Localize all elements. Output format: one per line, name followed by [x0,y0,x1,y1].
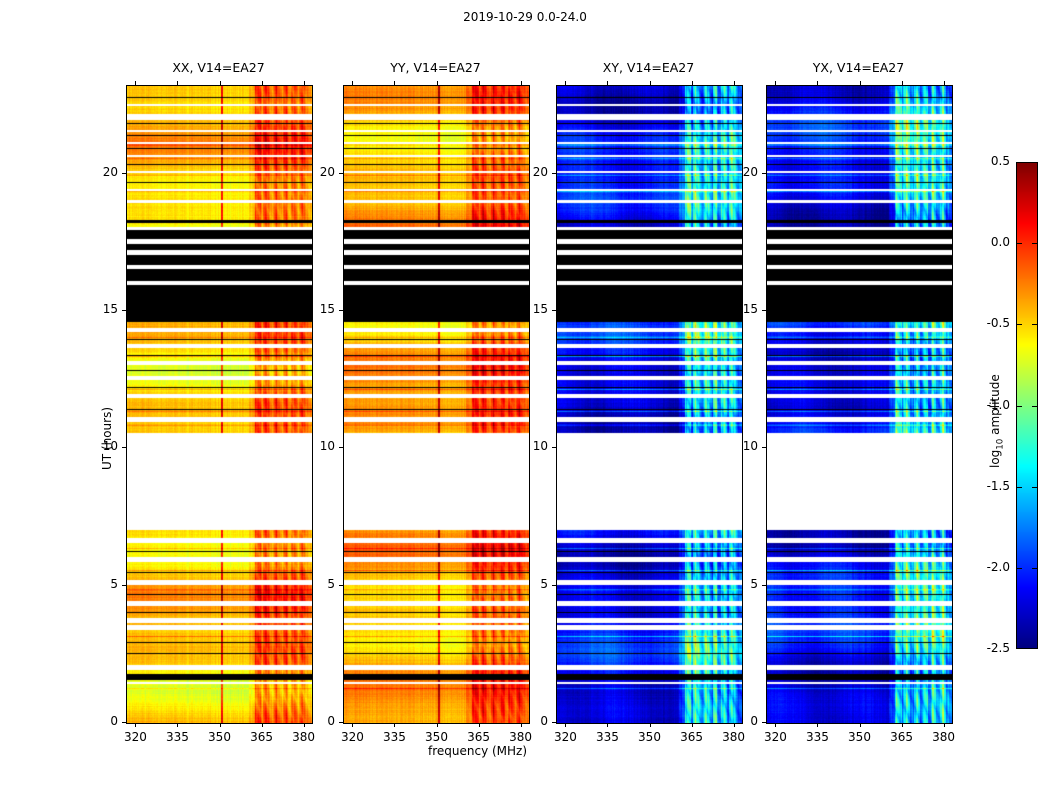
y-tick-label: 5 [726,577,758,591]
y-tick-label: 10 [516,439,548,453]
x-tick-label: 335 [157,730,197,744]
x-axis-label: frequency (MHz) [428,744,527,758]
panel-title-xy: XY, V14=EA27 [556,60,741,75]
x-tick-mark-top [860,81,861,85]
x-tick-mark-top [304,81,305,85]
y-tick-mark [122,447,126,448]
y-tick-mark [122,722,126,723]
x-tick-mark [860,723,861,727]
spectrum-image-yy [344,86,529,723]
y-tick-mark [552,173,556,174]
y-tick-label: 15 [726,302,758,316]
colorbar-label-sub: 10 [995,439,1005,450]
y-tick-label: 15 [516,302,548,316]
x-tick-mark [437,723,438,727]
y-tick-mark [339,173,343,174]
colorbar-tick-label: -2.5 [968,641,1010,655]
y-tick-mark [552,310,556,311]
x-tick-mark-top [734,81,735,85]
x-tick-mark-top [262,81,263,85]
y-tick-mark [339,447,343,448]
x-tick-label: 380 [714,730,754,744]
y-tick-mark [552,585,556,586]
panel-title-yy: YY, V14=EA27 [343,60,528,75]
colorbar-tick-label: -2.0 [968,560,1010,574]
x-tick-label: 320 [332,730,372,744]
x-tick-mark-top [479,81,480,85]
y-tick-mark [339,585,343,586]
x-tick-mark-top [220,81,221,85]
x-tick-mark [220,723,221,727]
x-tick-mark-top [902,81,903,85]
y-tick-label: 0 [516,714,548,728]
panel-title-yx: YX, V14=EA27 [766,60,951,75]
colorbar-tick-mark [1017,406,1022,407]
y-tick-mark [122,585,126,586]
x-tick-mark [352,723,353,727]
y-tick-label: 0 [86,714,118,728]
x-tick-mark-top [944,81,945,85]
x-tick-mark-top [521,81,522,85]
y-tick-label: 0 [726,714,758,728]
x-tick-mark-top [135,81,136,85]
x-tick-mark-top [565,81,566,85]
colorbar-tick-mark-right [1032,406,1037,407]
x-tick-label: 365 [672,730,712,744]
x-tick-label: 320 [755,730,795,744]
x-tick-mark-top [607,81,608,85]
x-tick-label: 335 [374,730,414,744]
y-tick-label: 20 [726,165,758,179]
spectrum-image-xx [127,86,312,723]
spectrum-panel-yx[interactable] [766,85,953,724]
figure-canvas: 2019-10-29 0.0-24.0 UT (hours) frequency… [0,0,1050,800]
y-tick-label: 20 [86,165,118,179]
x-tick-label: 380 [924,730,964,744]
x-tick-mark-top [394,81,395,85]
x-tick-mark-top [775,81,776,85]
colorbar-tick-label: 0.5 [968,154,1010,168]
spectrum-panel-xx[interactable] [126,85,313,724]
x-tick-label: 365 [882,730,922,744]
colorbar-label-rest: amplitude [988,374,1002,438]
colorbar-tick-mark-right [1032,487,1037,488]
colorbar-label: log10 amplitude [988,374,1005,468]
x-tick-label: 350 [630,730,670,744]
colorbar-tick-mark [1017,487,1022,488]
y-tick-mark [122,173,126,174]
x-tick-label: 350 [200,730,240,744]
x-tick-label: 350 [417,730,457,744]
x-tick-mark [692,723,693,727]
colorbar-tick-mark-right [1032,243,1037,244]
x-tick-mark [817,723,818,727]
y-tick-mark [762,173,766,174]
x-tick-label: 335 [797,730,837,744]
spectrum-panel-yy[interactable] [343,85,530,724]
y-tick-label: 15 [303,302,335,316]
y-tick-mark [339,310,343,311]
y-tick-label: 10 [86,439,118,453]
colorbar-tick-mark [1017,324,1022,325]
panel-title-xx: XX, V14=EA27 [126,60,311,75]
y-tick-label: 15 [86,302,118,316]
x-tick-mark [902,723,903,727]
y-tick-mark [552,447,556,448]
x-tick-mark-top [177,81,178,85]
y-tick-mark [122,310,126,311]
y-tick-mark [552,722,556,723]
y-tick-mark [762,722,766,723]
spectrum-panel-xy[interactable] [556,85,743,724]
y-tick-mark [762,310,766,311]
figure-suptitle: 2019-10-29 0.0-24.0 [0,10,1050,24]
colorbar-tick-label: 0.0 [968,235,1010,249]
x-tick-mark-top [692,81,693,85]
y-tick-label: 5 [516,577,548,591]
y-tick-label: 10 [303,439,335,453]
x-tick-mark [565,723,566,727]
x-tick-label: 320 [545,730,585,744]
y-tick-mark [762,585,766,586]
x-tick-label: 350 [840,730,880,744]
x-tick-mark-top [352,81,353,85]
x-tick-label: 380 [284,730,324,744]
x-tick-mark-top [650,81,651,85]
y-tick-label: 10 [726,439,758,453]
y-tick-mark [762,447,766,448]
x-tick-mark-top [437,81,438,85]
x-tick-mark [135,723,136,727]
colorbar-tick-label: -0.5 [968,316,1010,330]
x-tick-mark [262,723,263,727]
x-tick-label: 380 [501,730,541,744]
x-tick-label: 335 [587,730,627,744]
x-tick-label: 365 [242,730,282,744]
x-tick-mark [650,723,651,727]
x-tick-mark [394,723,395,727]
x-tick-mark [775,723,776,727]
colorbar-tick-mark-right [1032,568,1037,569]
y-tick-label: 5 [303,577,335,591]
y-tick-label: 5 [86,577,118,591]
x-tick-mark [607,723,608,727]
colorbar-label-log: log [988,450,1002,468]
colorbar-tick-mark [1017,243,1022,244]
x-tick-mark [177,723,178,727]
x-tick-mark [479,723,480,727]
spectrum-image-xy [557,86,742,723]
colorbar-tick-label: -1.5 [968,479,1010,493]
y-tick-label: 20 [303,165,335,179]
colorbar-tick-mark-right [1032,324,1037,325]
x-tick-label: 320 [115,730,155,744]
x-tick-mark-top [817,81,818,85]
x-tick-mark [944,723,945,727]
spectrum-image-yx [767,86,952,723]
x-tick-label: 365 [459,730,499,744]
y-tick-label: 0 [303,714,335,728]
y-tick-mark [339,722,343,723]
colorbar-tick-mark [1017,568,1022,569]
y-tick-label: 20 [516,165,548,179]
